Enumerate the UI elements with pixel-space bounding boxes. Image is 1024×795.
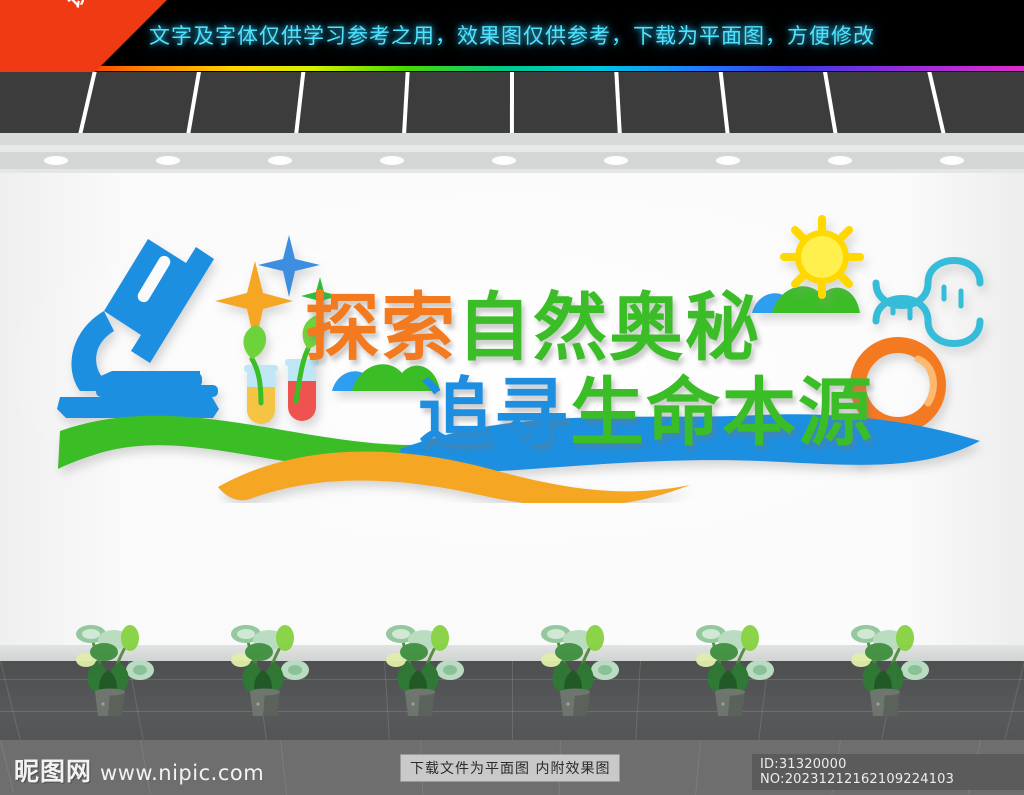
ceiling-light-strip (0, 152, 1024, 169)
potted-plant (217, 612, 313, 716)
ceiling-downlight (380, 156, 404, 165)
ceiling-molding-upper (0, 133, 1024, 145)
rainbow-divider (60, 66, 1024, 71)
ceiling-seam (401, 72, 410, 134)
potted-plant (372, 612, 468, 716)
dna-helix-icon (876, 261, 980, 344)
site-name-cn: 昵图网 (14, 752, 92, 788)
ceiling-downlight (156, 156, 180, 165)
ceiling-downlight (44, 156, 68, 165)
potted-plant (682, 612, 778, 716)
ceiling-downlight (940, 156, 964, 165)
ceiling-seam (926, 72, 948, 134)
site-url: www.nipic.com (100, 761, 264, 785)
ceiling-downlight (828, 156, 852, 165)
ceiling-seam (614, 72, 622, 134)
top-notice-banner: 文字及字体仅供学习参考之用，效果图仅供参考，下载为平面图，方便修改 (0, 0, 1024, 72)
download-note: 下载文件为平面图 内附效果图 (400, 754, 620, 782)
ceiling-downlight (268, 156, 292, 165)
ceiling-seam (76, 72, 98, 134)
ceiling-seam (510, 72, 514, 134)
ceiling-seam (293, 72, 306, 134)
hills-right-icon (752, 286, 860, 313)
notice-text: 文字及字体仅供学习参考之用，效果图仅供参考，下载为平面图，方便修改 (0, 20, 1024, 50)
footer-grid-line (0, 740, 14, 794)
ceiling-seam (184, 72, 202, 134)
ceiling (0, 72, 1024, 134)
headline-2-part-2: 生命本源 (570, 370, 874, 456)
ceiling-downlight (604, 156, 628, 165)
footer-grid-line (280, 740, 287, 795)
ceiling-downlight (492, 156, 516, 165)
ceiling-seam (822, 72, 839, 134)
test-tube-yellow-icon (243, 325, 278, 424)
potted-plant (837, 612, 933, 716)
screenshot-stage: 文字及字体仅供学习参考之用，效果图仅供参考，下载为平面图，方便修改 原创 设计 (0, 0, 1024, 795)
asset-id-text: ID:31320000 NO:20231212162109224103 (752, 754, 1024, 790)
ceiling-seam (718, 72, 731, 134)
footer-grid-line (695, 740, 701, 795)
sun-icon (784, 219, 860, 295)
ceiling-downlight (716, 156, 740, 165)
wall-artwork: 探索自然奥秘 追寻生命本源 (0, 173, 1024, 503)
potted-plant (527, 612, 623, 716)
potted-plant (62, 612, 158, 716)
microscope-icon (57, 239, 219, 418)
headline-2-part-1: 追寻 (418, 370, 570, 456)
site-logo: 昵图网 www.nipic.com (14, 752, 264, 788)
headline-line-2: 追寻生命本源 (418, 353, 874, 460)
